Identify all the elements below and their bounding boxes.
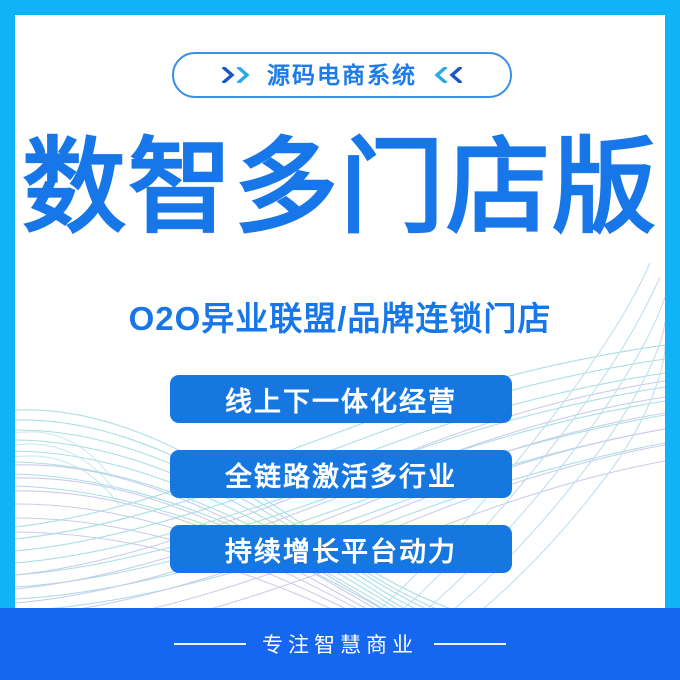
horizontal-rule-icon <box>174 643 246 645</box>
main-title: 数智多门店版 <box>15 132 665 244</box>
badge-label: 源码电商系统 <box>267 64 417 87</box>
promo-poster: 源码电商系统 数智多门店版 O2O异业联盟/品牌连锁门店 线上下一体化经营 全链… <box>0 0 680 680</box>
footer-bar: 专注智慧商业 <box>0 608 680 680</box>
subtitle: O2O异业联盟/品牌连锁门店 <box>15 292 665 340</box>
double-chevron-right-icon <box>222 67 256 83</box>
feature-pill[interactable]: 线上下一体化经营 <box>170 375 512 423</box>
horizontal-rule-icon <box>434 643 506 645</box>
feature-list: 线上下一体化经营 全链路激活多行业 持续增长平台动力 <box>170 375 512 573</box>
feature-pill[interactable]: 持续增长平台动力 <box>170 525 512 573</box>
poster-inner-panel: 源码电商系统 数智多门店版 O2O异业联盟/品牌连锁门店 线上下一体化经营 全链… <box>15 15 665 665</box>
badge-pill: 源码电商系统 <box>172 52 512 98</box>
footer-label: 专注智慧商业 <box>262 629 418 659</box>
double-chevron-left-icon <box>428 67 462 83</box>
feature-pill[interactable]: 全链路激活多行业 <box>170 450 512 498</box>
